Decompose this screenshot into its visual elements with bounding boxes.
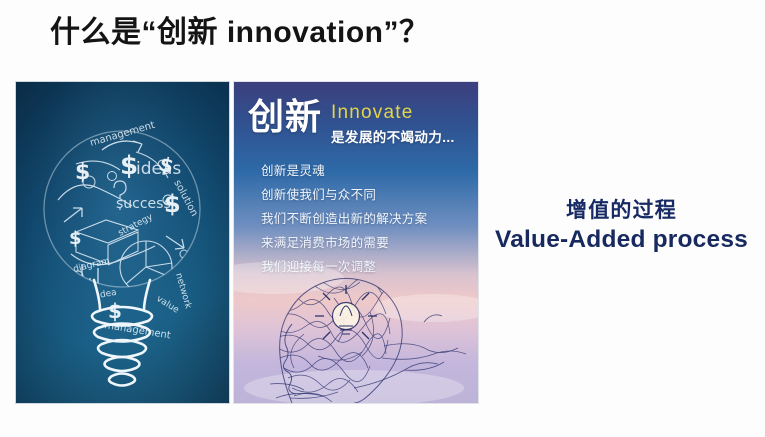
doodle-symbol-dollar: $: [69, 228, 82, 249]
doodle-word: value: [154, 294, 181, 316]
doodle-word: success: [116, 196, 171, 212]
poster-body-line: 创新是灵魂: [261, 160, 427, 179]
doodle-symbol-dollar: $: [108, 299, 122, 323]
page-title: 什么是“创新 innovation”？: [50, 14, 430, 52]
value-added-chinese: 增值的过程: [478, 198, 765, 224]
poster-subtitle: 是发展的不竭动力...: [331, 126, 455, 146]
poster-en-heading-group: Innovate 是发展的不竭动力...: [331, 100, 455, 146]
slide-canvas: 什么是“创新 innovation”？: [0, 0, 765, 437]
left-poster-image: $ $ $ $ $ $ management ideas success sol…: [16, 82, 229, 403]
value-added-text-block: 增值的过程 Value-Added process: [478, 198, 765, 255]
right-poster-image: 创新 Innovate 是发展的不竭动力... 创新是灵魂 创新使我们与众不同 …: [234, 82, 478, 403]
scribble-head-lightbulb-graphic: [234, 238, 478, 403]
value-added-english: Value-Added process: [478, 225, 765, 255]
doodle-symbol-dollar: $: [75, 160, 90, 185]
doodle-word: ideas: [136, 159, 181, 179]
poster-heading: 创新 Innovate 是发展的不竭动力...: [248, 100, 455, 146]
lightbulb-doodle-graphic: $ $ $ $ $ $ management ideas success sol…: [16, 104, 229, 403]
poster-en-title: Innovate: [331, 103, 455, 123]
poster-body-line: 创新使我们与众不同: [261, 184, 427, 203]
poster-cn-title: 创新: [248, 100, 322, 134]
poster-body-line: 我们不断创造出新的解决方案: [261, 208, 427, 227]
lightbulb-icon: [315, 285, 377, 339]
